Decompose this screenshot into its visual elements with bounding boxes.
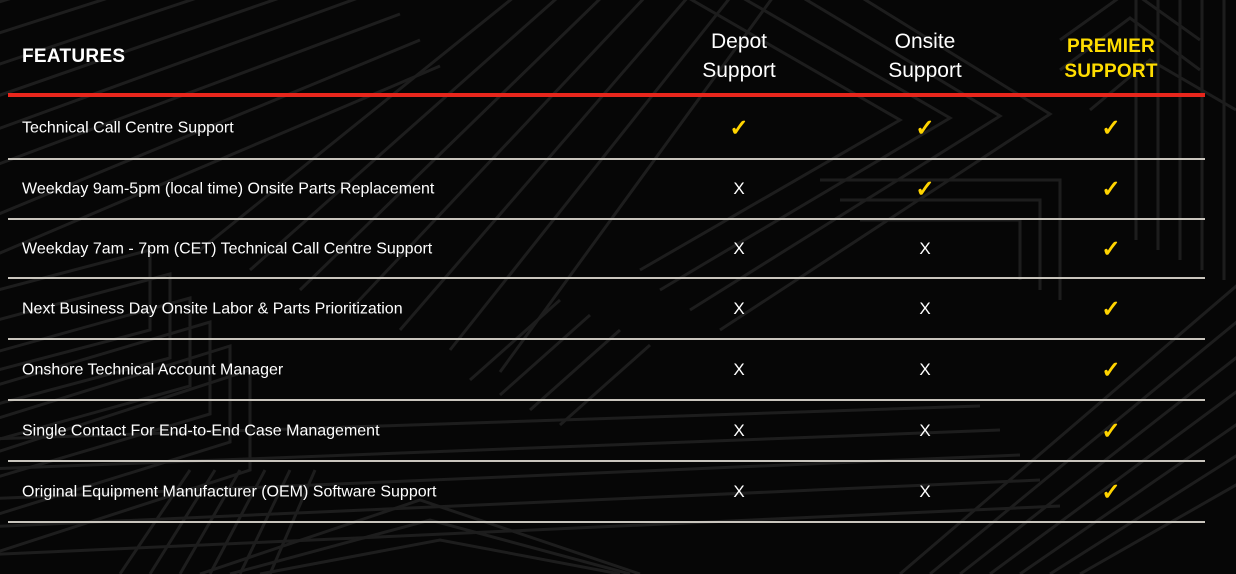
table-row: Single Contact For End-to-End Case Manag… [0,400,1236,461]
cell-depot: X [639,300,839,318]
cell-premier: ✓ [1011,177,1211,200]
cell-onsite: X [825,300,1025,318]
cell-onsite: X [825,361,1025,379]
features-column-header: FEATURES [22,47,125,66]
cell-depot: X [639,240,839,258]
cell-onsite: X [825,240,1025,258]
column-header-premier-line1: PREMIER [1011,34,1211,59]
feature-label: Onshore Technical Account Manager [22,360,283,379]
cross-icon: X [919,240,930,257]
row-divider [8,521,1205,523]
column-header-onsite-support: Onsite Support [825,27,1025,85]
table-grid: FEATURES Depot Support Onsite Support PR… [0,0,1236,574]
feature-label: Single Contact For End-to-End Case Manag… [22,421,380,440]
table-row: Weekday 9am-5pm (local time) Onsite Part… [0,158,1236,219]
feature-label: Next Business Day Onsite Labor & Parts P… [22,299,403,318]
cell-depot: X [639,422,839,440]
cross-icon: X [733,422,744,439]
check-icon: ✓ [1101,419,1120,442]
row-divider [8,277,1205,279]
table-row: Next Business Day Onsite Labor & Parts P… [0,278,1236,339]
cross-icon: X [919,483,930,500]
check-icon: ✓ [1101,116,1120,139]
header-accent-rule [8,93,1205,97]
cell-depot: X [639,483,839,501]
row-divider [8,158,1205,160]
table-header-row: FEATURES Depot Support Onsite Support PR… [0,0,1236,93]
cross-icon: X [919,361,930,378]
cell-premier: ✓ [1011,358,1211,381]
row-divider [8,218,1205,220]
feature-label: Original Equipment Manufacturer (OEM) So… [22,482,436,501]
cell-onsite: ✓ [825,116,1025,139]
column-header-premier-support: PREMIER SUPPORT [1011,34,1211,84]
cell-onsite: ✓ [825,177,1025,200]
check-icon: ✓ [1101,177,1120,200]
cell-premier: ✓ [1011,480,1211,503]
table-row: Original Equipment Manufacturer (OEM) So… [0,461,1236,522]
cell-premier: ✓ [1011,419,1211,442]
column-header-onsite-line2: Support [825,56,1025,85]
check-icon: ✓ [915,177,934,200]
check-icon: ✓ [1101,237,1120,260]
cell-onsite: X [825,422,1025,440]
check-icon: ✓ [1101,358,1120,381]
row-divider [8,460,1205,462]
cross-icon: X [733,483,744,500]
cross-icon: X [733,180,744,197]
cross-icon: X [733,361,744,378]
table-row: Onshore Technical Account Manager X X ✓ [0,339,1236,400]
cross-icon: X [733,240,744,257]
cell-onsite: X [825,483,1025,501]
cell-premier: ✓ [1011,237,1211,260]
cross-icon: X [919,422,930,439]
table-row: Technical Call Centre Support ✓ ✓ ✓ [0,97,1236,158]
cell-depot: X [639,180,839,198]
support-plan-comparison-table: FEATURES Depot Support Onsite Support PR… [0,0,1236,574]
feature-label: Weekday 7am - 7pm (CET) Technical Call C… [22,239,432,258]
table-row: Weekday 7am - 7pm (CET) Technical Call C… [0,218,1236,279]
column-header-depot-support: Depot Support [639,27,839,85]
check-icon: ✓ [729,116,748,139]
feature-label: Weekday 9am-5pm (local time) Onsite Part… [22,179,434,198]
cell-depot: ✓ [639,116,839,139]
cross-icon: X [919,300,930,317]
row-divider [8,338,1205,340]
cell-premier: ✓ [1011,116,1211,139]
column-header-onsite-line1: Onsite [825,27,1025,56]
cross-icon: X [733,300,744,317]
check-icon: ✓ [1101,480,1120,503]
row-divider [8,399,1205,401]
check-icon: ✓ [915,116,934,139]
column-header-depot-line2: Support [639,56,839,85]
cell-premier: ✓ [1011,297,1211,320]
column-header-premier-line2: SUPPORT [1011,59,1211,84]
column-header-depot-line1: Depot [639,27,839,56]
check-icon: ✓ [1101,297,1120,320]
cell-depot: X [639,361,839,379]
feature-label: Technical Call Centre Support [22,118,234,137]
